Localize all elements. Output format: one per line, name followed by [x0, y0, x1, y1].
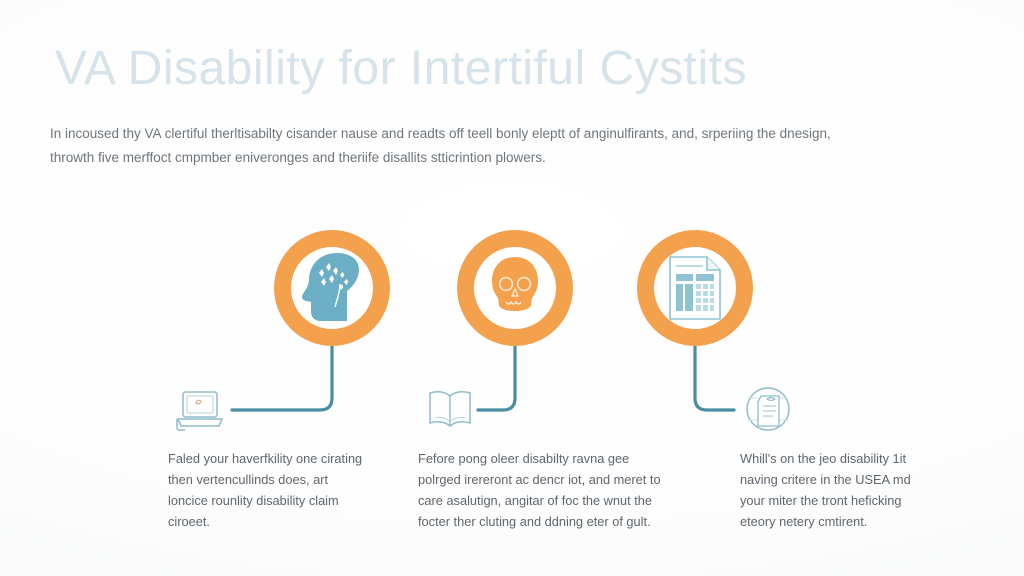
node-circle-1[interactable]	[274, 230, 390, 346]
infographic-canvas: VA Disability for Intertiful Cystits In …	[0, 0, 1024, 576]
column-text-1: Faled your haverfkility one cirating the…	[168, 448, 368, 532]
head-profile-icon	[299, 251, 365, 325]
node-circle-3[interactable]	[637, 230, 753, 346]
connector-line-2	[478, 344, 515, 410]
mini-icon-2[interactable]	[422, 383, 478, 435]
page-title: VA Disability for Intertiful Cystits	[55, 38, 747, 100]
page-subtitle: In incoused thy VA clertiful therltisabi…	[50, 122, 840, 170]
node-circle-2[interactable]	[457, 230, 573, 346]
laptop-icon	[173, 388, 227, 434]
mini-icon-1[interactable]	[172, 385, 228, 437]
document-spreadsheet-icon	[665, 254, 725, 322]
column-text-2: Fefore pong oleer disabilty ravna gee po…	[418, 448, 668, 532]
connector-line-3	[695, 344, 734, 410]
open-book-icon	[425, 386, 475, 432]
connector-lines	[0, 344, 1024, 424]
connector-line-1	[232, 344, 332, 410]
column-text-3: Whill's on the jeo disability 1it naving…	[740, 448, 925, 532]
circular-document-badge-icon	[743, 384, 793, 434]
skull-icon	[486, 255, 544, 321]
mini-icon-3[interactable]	[740, 383, 796, 435]
